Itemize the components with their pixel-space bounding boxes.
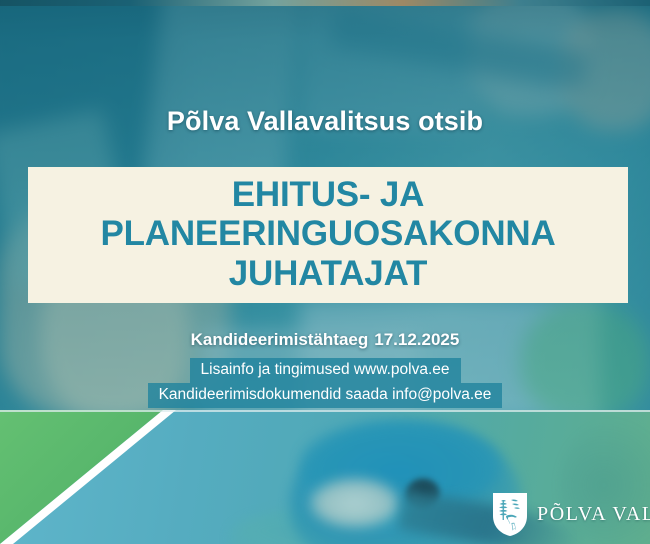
kingfisher-cheek — [310, 478, 400, 528]
contact-row: Lisainfo ja tingimused www.polva.ee — [0, 358, 650, 383]
job-title-line-2: PLANEERINGUOSAKONNA — [28, 214, 628, 253]
contact-line-email[interactable]: Kandideerimisdokumendid saada info@polva… — [148, 383, 503, 408]
polva-coat-of-arms-shield-icon — [492, 492, 528, 537]
photo-top-edge — [0, 0, 650, 6]
job-title-line-3: JUHATAJAT — [28, 254, 628, 293]
polva-vald-logo[interactable]: PÕLVA VALD — [492, 492, 650, 537]
job-title-heading: EHITUS- JA PLANEERINGUOSAKONNA JUHATAJAT — [28, 175, 628, 295]
poster-top-title: Põlva Vallavalitsus otsib — [0, 106, 650, 137]
job-title-line-1: EHITUS- JA — [28, 175, 628, 214]
logo-text: PÕLVA VALD — [537, 503, 650, 526]
deadline-label: Kandideerimistähtaeg — [191, 330, 369, 349]
job-advert-poster: Põlva Vallavalitsus otsib EHITUS- JA PLA… — [0, 0, 650, 544]
contact-row: Kandideerimisdokumendid saada info@polva… — [0, 383, 650, 408]
job-title-panel: EHITUS- JA PLANEERINGUOSAKONNA JUHATAJAT — [28, 167, 628, 303]
contact-info: Lisainfo ja tingimused www.polva.ee Kand… — [0, 358, 650, 408]
deadline-date: 17.12.2025 — [374, 330, 459, 349]
application-deadline: Kandideerimistähtaeg17.12.2025 — [0, 330, 650, 350]
section-divider — [0, 410, 650, 412]
contact-line-website[interactable]: Lisainfo ja tingimused www.polva.ee — [190, 358, 461, 383]
